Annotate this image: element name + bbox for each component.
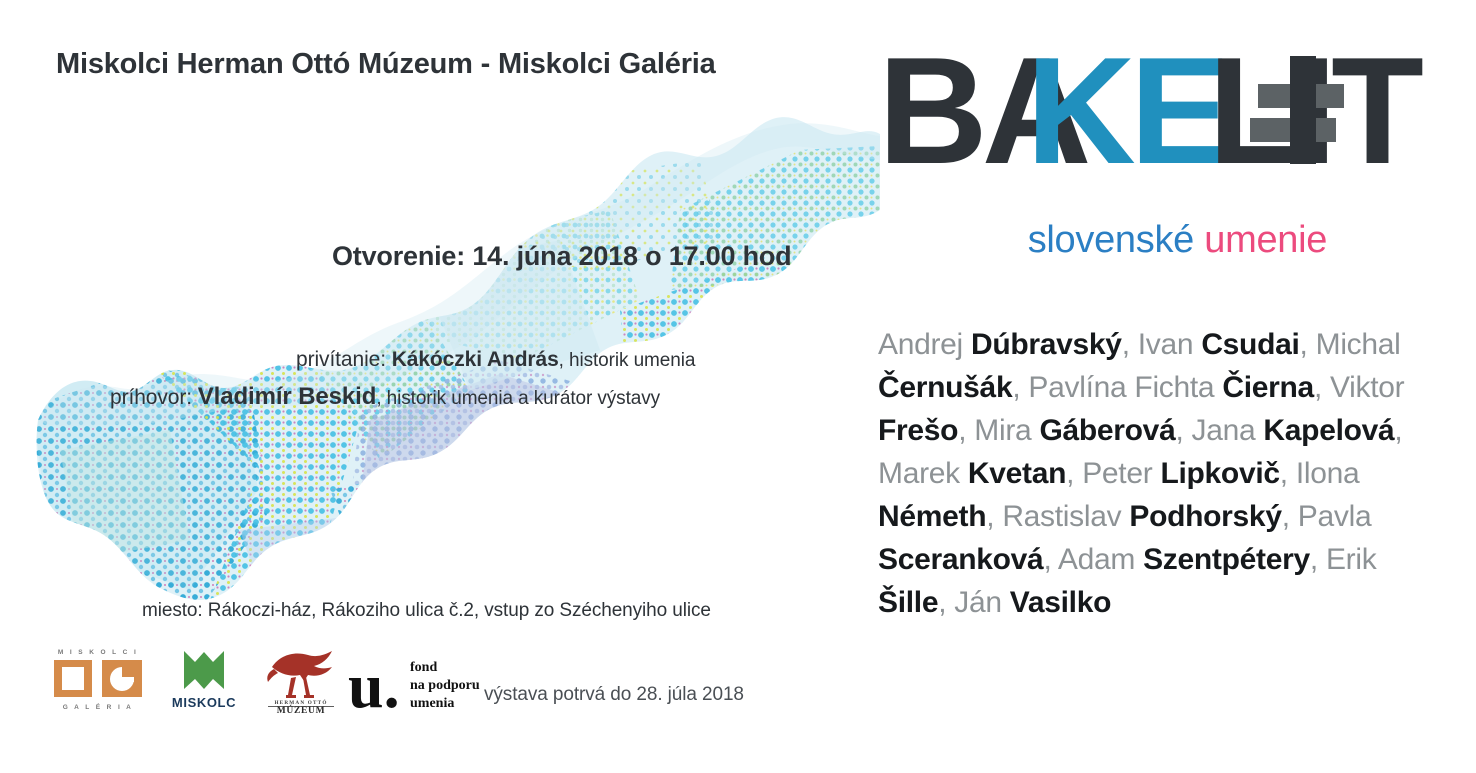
artist-first-name: Ivan (1138, 328, 1202, 361)
artist-first-name: Adam (1058, 543, 1143, 576)
artist-last-name: Šille (878, 586, 938, 619)
fond-line-3: umenia (410, 696, 454, 711)
artist-first-name: Pavla (1298, 500, 1372, 533)
artist-last-name: Gáberová (1039, 414, 1175, 447)
artist-first-name: Peter (1082, 457, 1160, 490)
galeria-bottom-text: G A L É R I A (63, 702, 133, 711)
artist-separator: , (1012, 371, 1028, 404)
artist-first-name: Ján (954, 586, 1010, 619)
artist-first-name: Mira (974, 414, 1039, 447)
artist-last-name: Sceranková (878, 543, 1043, 576)
speech-speaker: príhovor: Vladimír Beskid, historik umen… (110, 383, 660, 411)
galeria-top-text: M I S K O L C I (58, 649, 138, 656)
artist-last-name: Frešo (878, 414, 958, 447)
welcome-role: , historik umenia (559, 350, 696, 371)
artist-last-name: Dúbravský (971, 328, 1122, 361)
logo-fond-na-podporu-umenia: u. fond na podporu umenia (348, 645, 498, 715)
artist-first-name: Ilona (1296, 457, 1360, 490)
venue-address: miesto: Rákoczi-ház, Rákoziho ulica č.2,… (142, 600, 711, 622)
poster-canvas: Miskolci Herman Ottó Múzeum - Miskolci G… (0, 0, 1476, 773)
welcome-speaker: privítanie: Kákóczki András, historik um… (296, 348, 695, 372)
miskolc-m-mark (184, 651, 224, 689)
artist-last-name: Kvetan (968, 457, 1066, 490)
artist-last-name: Kapelová (1263, 414, 1394, 447)
artist-last-name: Németh (878, 500, 986, 533)
fond-line-1: fond (410, 660, 437, 675)
artist-separator: , (1043, 543, 1057, 576)
fond-u-mark: u. (348, 650, 400, 715)
artist-separator: , (938, 586, 954, 619)
welcome-label: privítanie: (296, 348, 386, 371)
artist-first-name: Jana (1192, 414, 1264, 447)
artist-separator: , (1394, 414, 1402, 447)
artist-first-name: Viktor (1330, 371, 1404, 404)
miskolc-wordmark: MISKOLC (172, 695, 236, 710)
artist-separator: , (958, 414, 974, 447)
artist-separator: , (1314, 371, 1330, 404)
artist-last-name: Lipkovič (1160, 457, 1279, 490)
artist-separator: , (1282, 500, 1298, 533)
subtitle-word-3: umenie (1204, 219, 1327, 261)
logo-miskolc-city: MISKOLC (162, 645, 246, 715)
logo-herman-otto-muzeum: HERMAN OTTÓ MÚZEUM (260, 645, 342, 715)
artist-last-name: Čierna (1222, 371, 1314, 404)
artist-separator: , (1300, 328, 1316, 361)
logo-part-blue: KE (1026, 36, 1226, 186)
artist-separator: , (1310, 543, 1326, 576)
subtitle: súčasné slovenské umenie (878, 219, 1327, 262)
welcome-name: Kákóczki András (392, 348, 559, 371)
artist-last-name: Csudai (1201, 328, 1299, 361)
artist-first-name: Marek (878, 457, 968, 490)
hom-wordmark: MÚZEUM (277, 704, 326, 715)
artist-separator: , (986, 500, 1002, 533)
artist-separator: , (1066, 457, 1082, 490)
artist-last-name: Podhorský (1129, 500, 1281, 533)
artist-list: Andrej Dúbravský, Ivan Csudai, Michal Če… (878, 323, 1438, 624)
speech-name: Vladimír Beskid (198, 383, 377, 410)
logo-miskolci-galeria: M I S K O L C I G A L É R I A (50, 645, 146, 715)
artist-first-name: Pavlína Fichta (1028, 371, 1222, 404)
artist-separator: , (1122, 328, 1138, 361)
artist-separator: , (1280, 457, 1296, 490)
hom-top-text: HERMAN OTTÓ (274, 698, 327, 706)
turul-bird-icon (267, 651, 332, 698)
artist-first-name: Rastislav (1002, 500, 1129, 533)
opening-info: Otvorenie: 14. júna 2018 o 17.00 hod (332, 241, 791, 272)
artist-first-name: Michal (1316, 328, 1401, 361)
artist-separator: , (1175, 414, 1191, 447)
exhibition-duration: výstava potrvá do 28. júla 2018 (484, 684, 744, 706)
artist-last-name: Szentpétery (1143, 543, 1310, 576)
subtitle-word-2: slovenské (1028, 219, 1194, 261)
subtitle-word-1: súčasné (878, 219, 1017, 261)
artist-last-name: Černušák (878, 371, 1012, 404)
bakelit-logotype: BA KE LIT (878, 36, 1438, 186)
speech-label: príhovor: (110, 386, 192, 409)
fond-line-2: na podporu (410, 678, 480, 693)
page-title: Miskolci Herman Ottó Múzeum - Miskolci G… (56, 48, 716, 81)
artist-first-name: Andrej (878, 328, 971, 361)
artist-last-name: Vasilko (1010, 586, 1111, 619)
map-edge-wash (40, 123, 880, 426)
artist-first-name: Erik (1326, 543, 1376, 576)
speech-role: , historik umenia a kurátor výstavy (376, 388, 660, 409)
logo-i-stem (1290, 56, 1316, 164)
